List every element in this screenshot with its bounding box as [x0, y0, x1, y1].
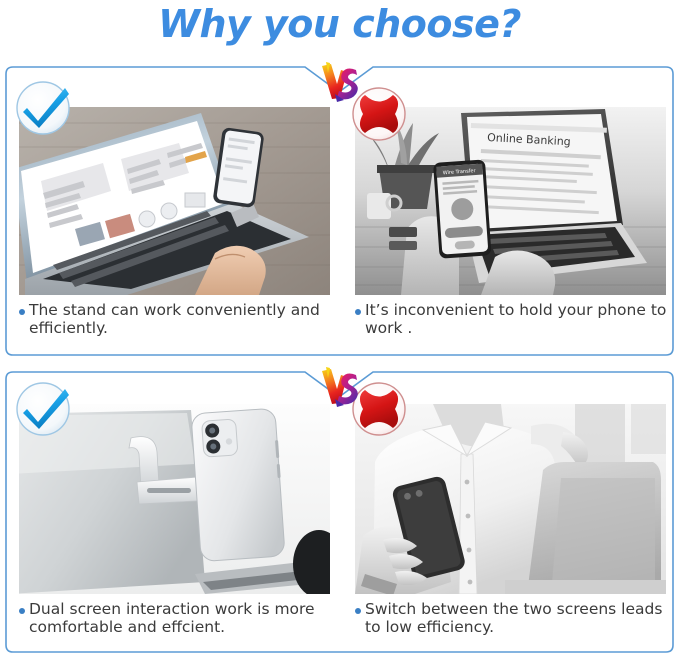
vs-versus-badge [317, 365, 361, 409]
caption-good-1: The stand can work conveniently and effi… [19, 302, 331, 338]
comparison-row-2: Dual screen interaction work is more com… [5, 371, 674, 653]
comparison-infographic: Why you choose? [0, 0, 679, 657]
caption-text: It’s inconvenient to hold your phone to … [365, 302, 667, 338]
caption-good-2: Dual screen interaction work is more com… [19, 601, 331, 637]
comparison-row-1: The stand can work conveniently and effi… [5, 66, 674, 356]
vs-versus-badge [317, 60, 361, 104]
bullet-icon [355, 309, 361, 315]
page-title: Why you choose? [0, 2, 679, 46]
caption-text: The stand can work conveniently and effi… [29, 302, 331, 338]
caption-bad-2: Switch between the two screens leads to … [355, 601, 667, 637]
caption-text: Dual screen interaction work is more com… [29, 601, 331, 637]
caption-bad-1: It’s inconvenient to hold your phone to … [355, 302, 667, 338]
blue-check-badge [13, 78, 73, 138]
bullet-icon [355, 608, 361, 614]
bullet-icon [19, 608, 25, 614]
blue-check-badge [13, 379, 73, 439]
bullet-icon [19, 309, 25, 315]
caption-text: Switch between the two screens leads to … [365, 601, 667, 637]
